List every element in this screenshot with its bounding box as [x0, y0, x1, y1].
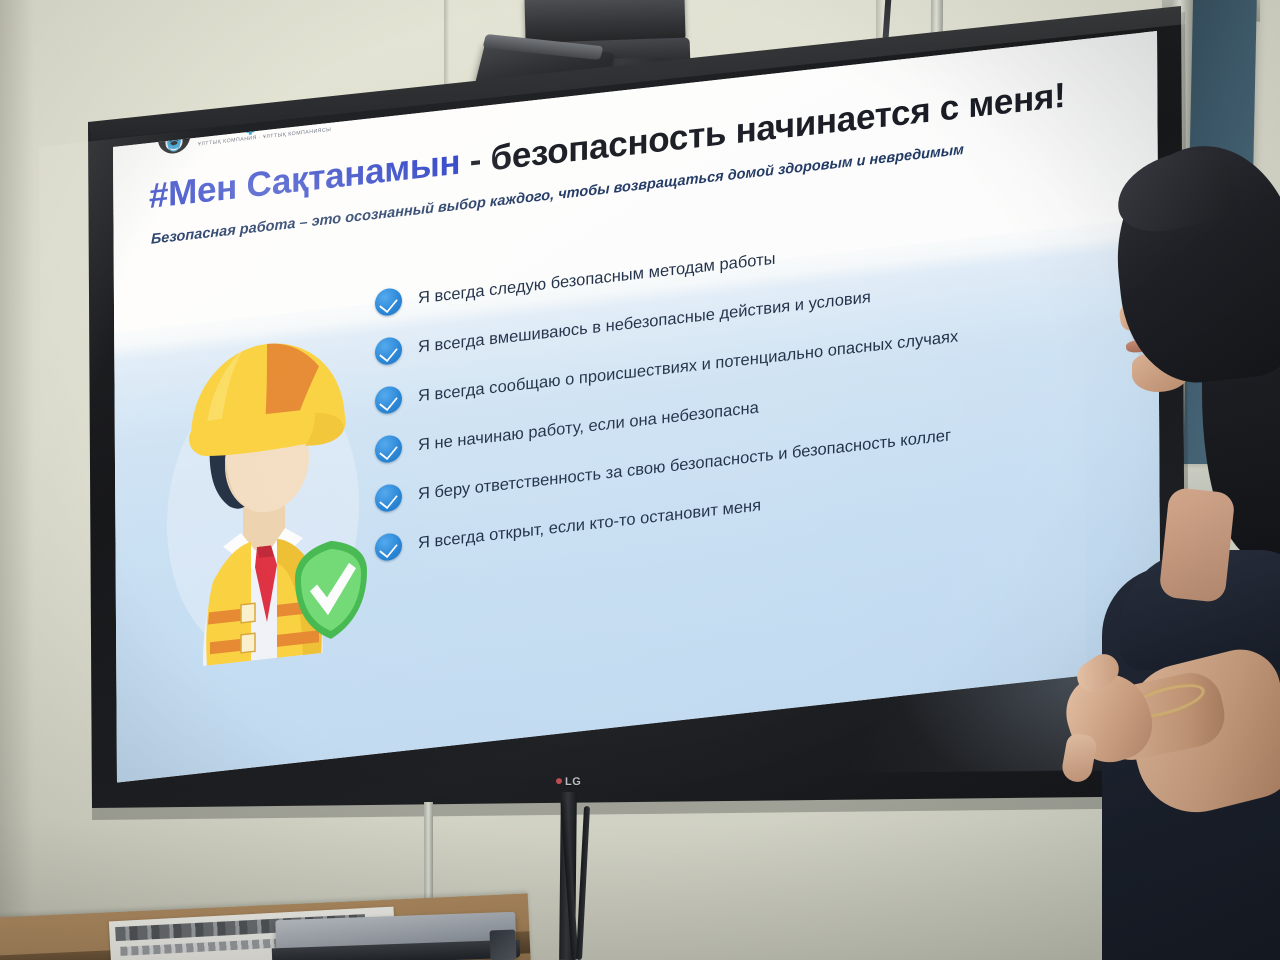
check-circle-icon [375, 483, 402, 513]
check-circle-icon [375, 434, 402, 464]
presenter-neck [1158, 487, 1235, 603]
check-circle-icon [375, 336, 402, 366]
safety-worker-illustration [155, 303, 370, 672]
room-photo: КазМұнайГаз ҰЛТТЫҚ КОМПАНИЯ · ҰЛТТЫҚ КОМ… [0, 0, 1280, 960]
check-circle-icon [375, 385, 402, 415]
check-circle-icon [375, 532, 402, 562]
list-item-label: Я не начинаю работу, если она небезопасн… [418, 399, 759, 456]
tv-screen[interactable]: КазМұнайГаз ҰЛТТЫҚ КОМПАНИЯ · ҰЛТТЫҚ КОМ… [74, 0, 1194, 900]
laptop-hinge [489, 930, 516, 960]
list-item-label: Я всегда открыт, если кто-то остановит м… [418, 496, 761, 553]
wall-left-shadow [0, 0, 34, 960]
presenter-person [1092, 118, 1280, 960]
check-circle-icon [375, 287, 402, 317]
lg-brand-logo: LG [556, 776, 581, 788]
